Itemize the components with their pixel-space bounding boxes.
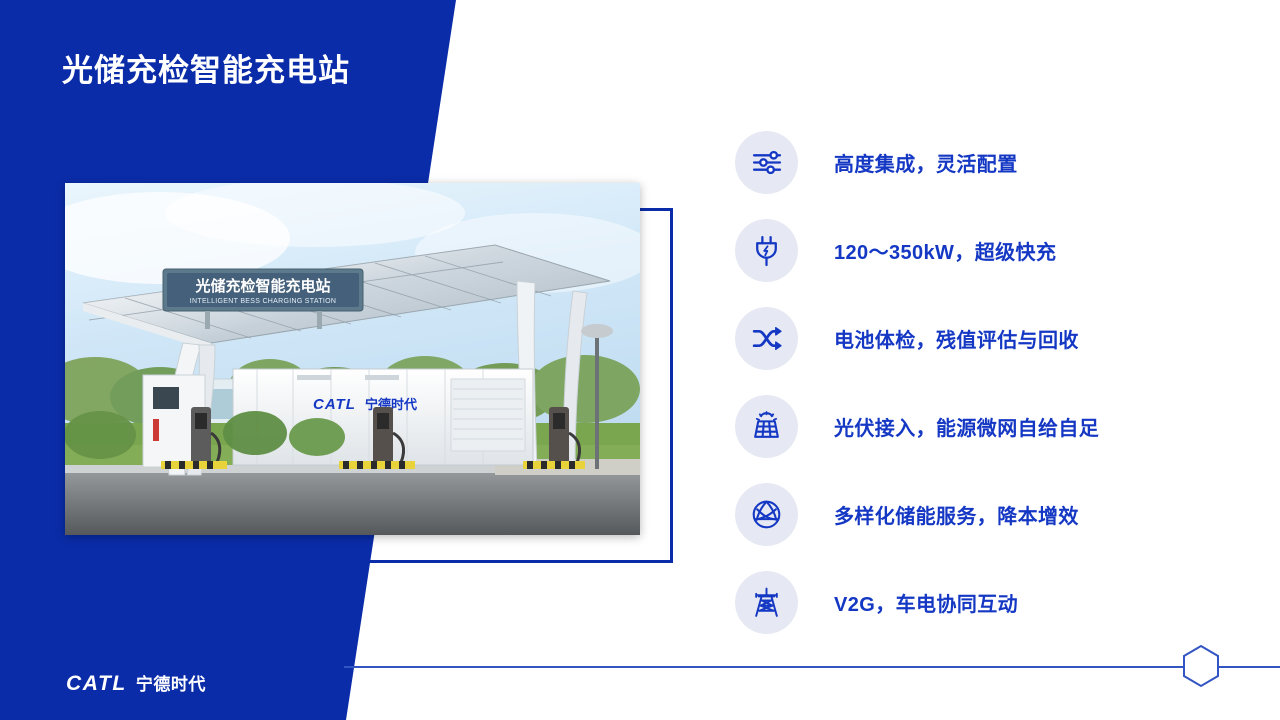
feature-row-1[interactable]: 高度集成，灵活配置 xyxy=(735,118,1235,206)
feature-label-5: 多样化储能服务，降本增效 xyxy=(834,500,1079,529)
svg-text:INTELLIGENT BESS CHARGING STAT: INTELLIGENT BESS CHARGING STATION xyxy=(190,298,336,305)
feature-label-3: 电池体检，残值评估与回收 xyxy=(834,324,1079,353)
power-plug-icon xyxy=(735,219,798,282)
feature-list: 高度集成，灵活配置 120～350kW，超级快充 xyxy=(735,118,1235,646)
station-photo: 光储充检智能充电站 INTELLIGENT BESS CHARGING STAT… xyxy=(65,183,640,535)
catl-logo: CATL 宁德时代 xyxy=(66,670,206,696)
hexagon-ornament-icon xyxy=(1178,643,1224,689)
globe-network-icon xyxy=(735,483,798,546)
feature-row-4[interactable]: 光伏接入，能源微网自给自足 xyxy=(735,382,1235,470)
shuffle-arrows-icon xyxy=(735,307,798,370)
feature-label-4: 光伏接入，能源微网自给自足 xyxy=(834,412,1099,441)
feature-row-5[interactable]: 多样化储能服务，降本增效 xyxy=(735,470,1235,558)
feature-label-1: 高度集成，灵活配置 xyxy=(834,148,1018,177)
slide-root: 光储充检智能充电站 xyxy=(0,0,1280,720)
feature-row-3[interactable]: 电池体检，残值评估与回收 xyxy=(735,294,1235,382)
solar-panel-icon xyxy=(735,395,798,458)
power-tower-icon xyxy=(735,571,798,634)
feature-label-6: V2G，车电协同互动 xyxy=(834,588,1018,617)
feature-row-6[interactable]: V2G，车电协同互动 xyxy=(735,558,1235,646)
catl-logo-latin: CATL xyxy=(66,672,127,696)
sliders-icon xyxy=(735,131,798,194)
station-photo-illustration: 光储充检智能充电站 INTELLIGENT BESS CHARGING STAT… xyxy=(65,183,640,535)
page-title: 光储充检智能充电站 xyxy=(62,45,350,90)
feature-label-2: 120～350kW，超级快充 xyxy=(834,236,1056,265)
feature-row-2[interactable]: 120～350kW，超级快充 xyxy=(735,206,1235,294)
svg-text:光储充检智能充电站: 光储充检智能充电站 xyxy=(194,277,330,295)
svg-text:CATL: CATL xyxy=(313,396,356,413)
footer-divider-line xyxy=(344,666,1280,668)
catl-logo-chinese: 宁德时代 xyxy=(136,670,206,695)
